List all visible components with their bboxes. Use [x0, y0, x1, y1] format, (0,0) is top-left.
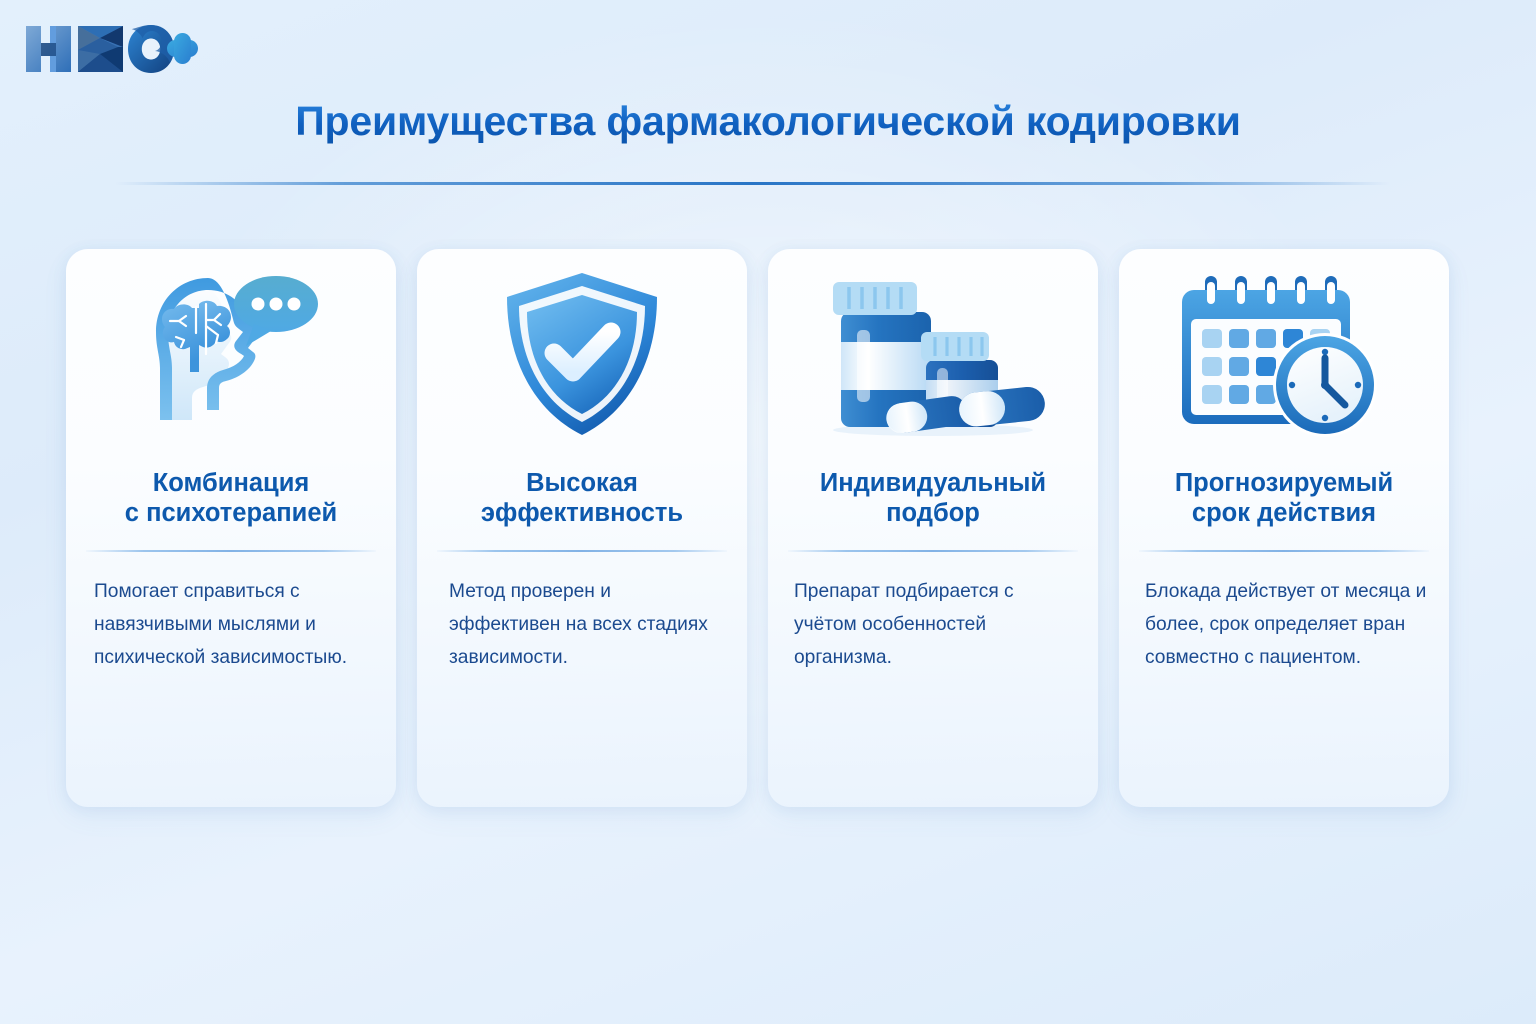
card-title: Комбинация с психотерапией: [86, 449, 376, 531]
benefit-card-individual-selection[interactable]: Индивидуальный подбор Препарат подбирает…: [768, 249, 1098, 807]
card-title-line1: Индивидуальный: [820, 469, 1046, 497]
page-title-wrapper: Преимущества фармакологической кодировки: [0, 98, 1536, 145]
card-title-line2: с психотерапией: [125, 499, 337, 527]
pill-bottles-capsules-icon: [768, 249, 1098, 449]
head-brain-speech-bubble-icon: [66, 249, 396, 449]
card-description: Блокада действует от месяца и более, сро…: [1141, 575, 1427, 675]
calendar-clock-icon: [1119, 249, 1449, 449]
benefits-card-row: Комбинация с психотерапией Помогает спра…: [66, 249, 1470, 807]
benefit-card-effectiveness[interactable]: Высокая эффективность Метод проверен и э…: [417, 249, 747, 807]
shield-checkmark-icon: [417, 249, 747, 449]
card-title-line1: Комбинация: [153, 469, 310, 497]
card-title: Прогнозируемый срок действия: [1139, 449, 1429, 531]
benefit-card-psychotherapy[interactable]: Комбинация с психотерапией Помогает спра…: [66, 249, 396, 807]
card-title-line1: Прогнозируемый: [1175, 469, 1393, 497]
card-description: Препарат подбирается с учётом особенност…: [790, 575, 1076, 675]
card-title-line2: эффективность: [481, 499, 683, 527]
card-description: Помогает справиться с навязчивыми мыслям…: [88, 575, 374, 675]
neo-plus-logo-icon: [18, 18, 198, 80]
card-divider: [788, 550, 1078, 552]
card-divider: [437, 550, 727, 552]
card-title: Индивидуальный подбор: [788, 449, 1078, 531]
card-description: Метод проверен и эффективен на всех стад…: [439, 575, 725, 675]
card-divider: [1139, 550, 1429, 552]
benefit-card-duration[interactable]: Прогнозируемый срок действия Блокада дей…: [1119, 249, 1449, 807]
card-title-line1: Высокая: [526, 469, 638, 497]
card-title-line2: подбор: [886, 499, 980, 527]
card-title-line2: срок действия: [1192, 499, 1376, 527]
title-divider: [115, 182, 1390, 185]
card-divider: [86, 550, 376, 552]
page-title: Преимущества фармакологической кодировки: [295, 98, 1241, 145]
brand-logo[interactable]: [18, 18, 198, 80]
card-title: Высокая эффективность: [437, 449, 727, 531]
